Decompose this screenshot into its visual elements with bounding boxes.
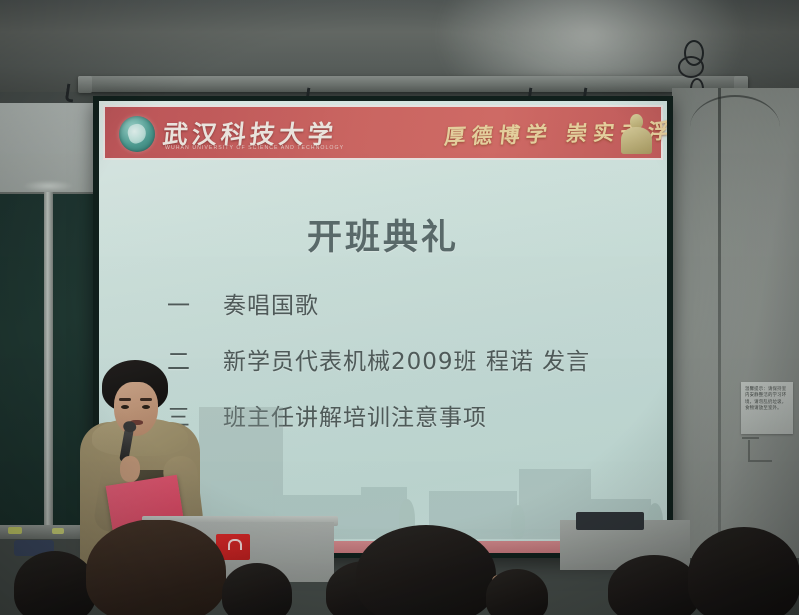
university-seal-icon	[119, 116, 155, 152]
wall-seam	[718, 88, 721, 558]
agenda-item: 二 新学员代表机械2009班 程诺 发言	[167, 342, 651, 376]
ceiling-hook-icon	[65, 84, 75, 103]
speaker-hand-mic	[120, 456, 140, 482]
slide-banner: 武汉科技大学 WUHAN UNIVERSITY OF SCIENCE AND T…	[103, 105, 663, 160]
agenda-text: 新学员代表机械2009班 程诺 发言	[223, 342, 590, 376]
right-wall	[672, 88, 799, 558]
blackboard-slide-rail	[44, 192, 53, 532]
roller-cap-left	[78, 76, 92, 93]
audience-row	[0, 520, 799, 615]
slide-title: 开班典礼	[99, 209, 667, 260]
classroom-photo-scene: 武汉科技大学 WUHAN UNIVERSITY OF SCIENCE AND T…	[0, 0, 799, 615]
agenda-text: 奏唱国歌	[223, 286, 319, 320]
speaker-eyebrow	[140, 398, 152, 401]
audience-head	[14, 551, 96, 615]
chalk-dust	[22, 180, 74, 192]
wall-notice-sign: 温馨提示：请保持室内安静整洁的学习环境，请勿乱扔垃圾，食物请放至室外。	[741, 382, 793, 434]
speaker-eye	[121, 405, 129, 409]
wall-notice-text: 温馨提示：请保持室内安静整洁的学习环境，请勿乱扔垃圾，食物请放至室外。	[745, 386, 789, 412]
audience-head	[608, 555, 700, 615]
agenda-number: 一	[167, 286, 223, 320]
audience-head	[486, 569, 548, 615]
agenda-item: 一 奏唱国歌	[167, 286, 651, 320]
audience-head	[86, 520, 226, 615]
wall-hook-icon	[748, 440, 772, 462]
audience-head	[356, 525, 496, 615]
audience-head	[688, 527, 799, 615]
projector-screen-roller-housing	[78, 76, 748, 92]
audience-head	[222, 563, 292, 615]
speaker-eye	[142, 405, 150, 409]
statue-bust-icon	[619, 114, 653, 156]
speaker-eyebrow	[119, 398, 131, 401]
university-name-en: WUHAN UNIVERSITY OF SCIENCE AND TECHNOLO…	[165, 145, 344, 151]
